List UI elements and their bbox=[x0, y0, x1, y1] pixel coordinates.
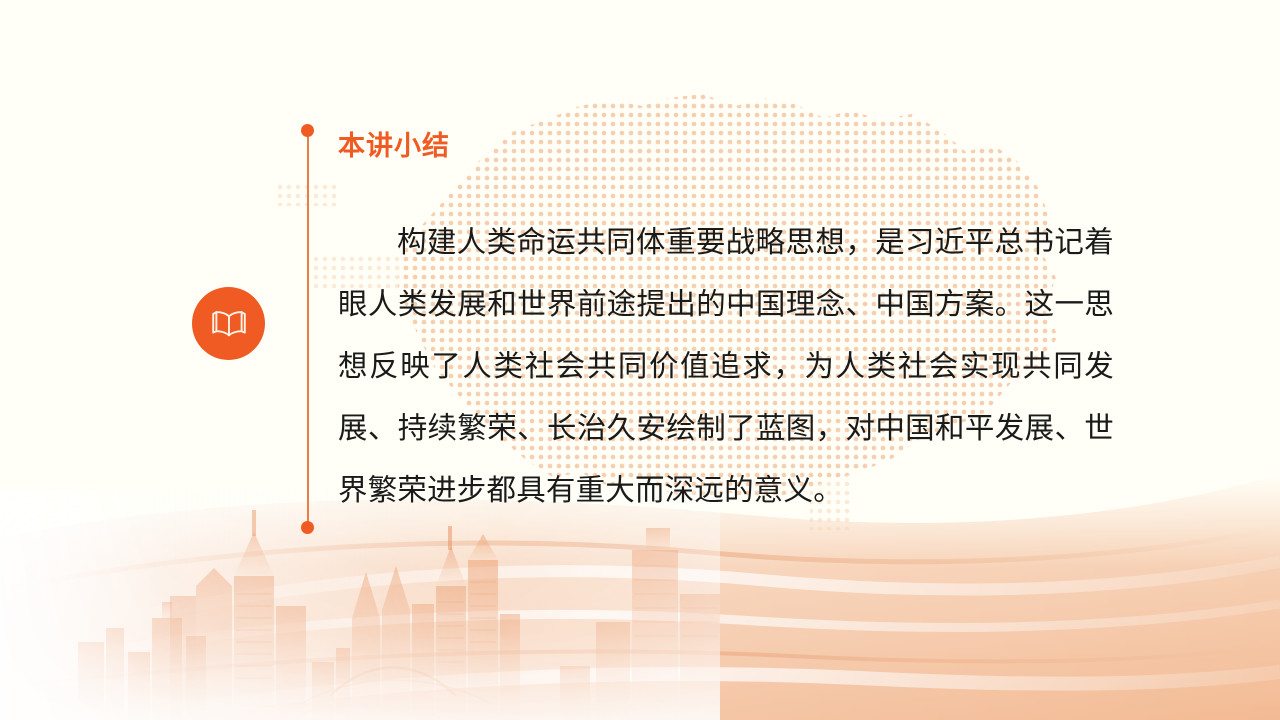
summary-paragraph-text: 构建人类命运共同体重要战略思想，是习近平总书记着眼人类发展和世界前途提出的中国理… bbox=[338, 212, 1114, 522]
timeline-dot-bottom-icon bbox=[301, 521, 314, 534]
timeline-rail bbox=[307, 130, 309, 528]
open-book-badge[interactable] bbox=[192, 287, 265, 360]
timeline-dot-top-icon bbox=[301, 124, 314, 137]
section-title: 本讲小结 bbox=[338, 133, 450, 160]
open-book-icon bbox=[209, 309, 249, 339]
slide-canvas: 本讲小结 构建人类命运共同体重要战略思想，是习近平总书记着眼人类发展和世界前途提… bbox=[0, 0, 1280, 720]
city-skyline-decoration bbox=[0, 490, 720, 720]
summary-paragraph: 构建人类命运共同体重要战略思想，是习近平总书记着眼人类发展和世界前途提出的中国理… bbox=[338, 212, 1114, 522]
